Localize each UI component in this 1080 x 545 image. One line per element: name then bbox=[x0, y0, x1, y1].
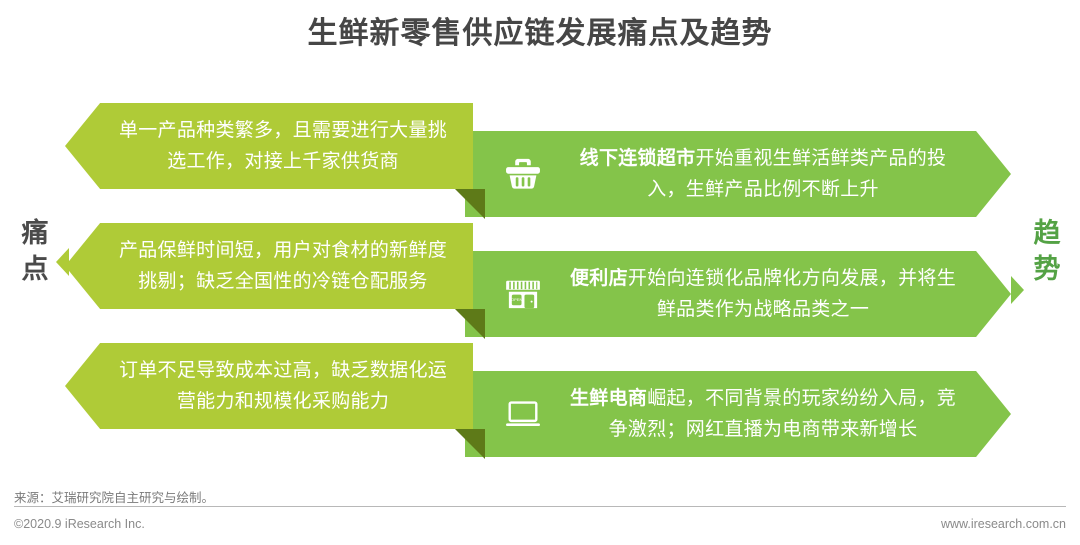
pain-point-arrow-1[interactable]: 单一产品种类繁多，且需要进行大量挑选工作，对接上千家供货商 bbox=[65, 103, 473, 189]
diagram-row: 单一产品种类繁多，且需要进行大量挑选工作，对接上千家供货商 线下连锁超市开始重视… bbox=[0, 95, 1080, 215]
trend-text-highlight: 生鲜电商 bbox=[570, 388, 647, 409]
trend-text: 便利店开始向连锁化品牌化方向发展，并将生鲜品类作为战略品类之一 bbox=[561, 263, 965, 325]
diagram-row: 订单不足导致成本过高，缺乏数据化运营能力和规模化采购能力 生鲜电商崛起，不同背景… bbox=[0, 335, 1080, 455]
page-title: 生鲜新零售供应链发展痛点及趋势 bbox=[0, 12, 1080, 56]
trend-text-rest: 崛起，不同背景的玩家纷纷入局，竞争激烈；网红直播为电商带来新增长 bbox=[609, 388, 956, 440]
footer-divider bbox=[14, 506, 1066, 507]
copyright-note: ©2020.9 iResearch Inc. bbox=[14, 517, 145, 531]
side-label-trends: 趋 势 bbox=[1024, 215, 1070, 287]
trend-text: 线下连锁超市开始重视生鲜活鲜类产品的投入，生鲜产品比例不断上升 bbox=[561, 143, 965, 205]
laptop-icon bbox=[499, 390, 547, 438]
trend-text: 生鲜电商崛起，不同背景的玩家纷纷入局，竞争激烈；网红直播为电商带来新增长 bbox=[561, 383, 965, 445]
side-label-pain-points: 痛 点 bbox=[12, 215, 58, 287]
side-label-trend-char-2: 势 bbox=[1024, 251, 1070, 287]
source-note: 来源：艾瑞研究院自主研究与绘制。 bbox=[14, 487, 214, 506]
trend-text-highlight: 便利店 bbox=[570, 268, 628, 289]
trend-side-pointer bbox=[1011, 276, 1024, 304]
shopping-basket-icon bbox=[499, 150, 547, 198]
svg-text:OPEN: OPEN bbox=[511, 297, 522, 302]
painpoint-trend-diagram: 单一产品种类繁多，且需要进行大量挑选工作，对接上千家供货商 线下连锁超市开始重视… bbox=[0, 95, 1080, 465]
pain-point-text: 订单不足导致成本过高，缺乏数据化运营能力和规模化采购能力 bbox=[111, 355, 455, 417]
diagram-row: 产品保鲜时间短，用户对食材的新鲜度挑剔；缺乏全国性的冷链仓配服务 bbox=[0, 215, 1080, 335]
side-label-pain-char-2: 点 bbox=[12, 251, 58, 287]
trend-text-rest: 开始向连锁化品牌化方向发展，并将生鲜品类作为战略品类之一 bbox=[628, 268, 956, 320]
trend-arrow-2[interactable]: OPEN 便利店开始向连锁化品牌化方向发展，并将生鲜品类作为战略品类之一 bbox=[465, 251, 1011, 337]
side-label-pain-char-1: 痛 bbox=[12, 215, 58, 251]
trend-arrow-1[interactable]: 线下连锁超市开始重视生鲜活鲜类产品的投入，生鲜产品比例不断上升 bbox=[465, 131, 1011, 217]
storefront-icon: OPEN bbox=[499, 270, 547, 318]
pain-point-arrow-2[interactable]: 产品保鲜时间短，用户对食材的新鲜度挑剔；缺乏全国性的冷链仓配服务 bbox=[65, 223, 473, 309]
pain-point-text: 产品保鲜时间短，用户对食材的新鲜度挑剔；缺乏全国性的冷链仓配服务 bbox=[111, 235, 455, 297]
website-url: www.iresearch.com.cn bbox=[941, 517, 1066, 531]
pain-point-text: 单一产品种类繁多，且需要进行大量挑选工作，对接上千家供货商 bbox=[111, 115, 455, 177]
pain-point-arrow-3[interactable]: 订单不足导致成本过高，缺乏数据化运营能力和规模化采购能力 bbox=[65, 343, 473, 429]
side-label-trend-char-1: 趋 bbox=[1024, 215, 1070, 251]
trend-arrow-3[interactable]: 生鲜电商崛起，不同背景的玩家纷纷入局，竞争激烈；网红直播为电商带来新增长 bbox=[465, 371, 1011, 457]
trend-text-highlight: 线下连锁超市 bbox=[580, 148, 696, 169]
